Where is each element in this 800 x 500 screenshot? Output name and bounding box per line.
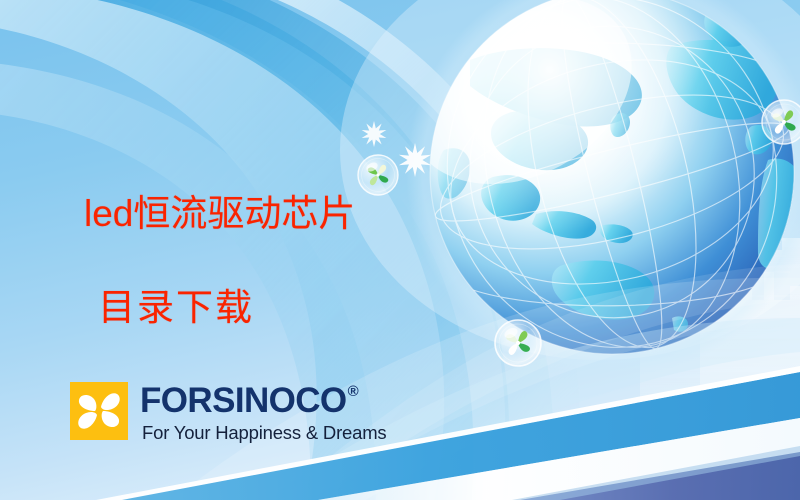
logo-text-block: FORSINOCO ® For Your Happiness & Dreams [140,382,386,443]
logo-mark [70,382,128,440]
logo-wordmark: FORSINOCO ® [140,383,386,418]
headline-line-1: led恒流驱动芯片 [84,195,355,233]
bubble-small-left [358,155,398,195]
brand-logo[interactable]: FORSINOCO ® For Your Happiness & Dreams [70,382,386,443]
logo-tagline: For Your Happiness & Dreams [142,424,386,443]
logo-wordmark-text: FORSINOCO [140,383,347,418]
promo-banner: led恒流驱动芯片 目录下载 FORSINOCO ® [0,0,800,500]
registered-trademark-icon: ® [348,384,358,399]
headline-line-2: 目录下载 [98,289,355,327]
four-petal-pinwheel-icon [70,382,128,440]
page-title: led恒流驱动芯片 目录下载 [84,162,355,359]
bubble-lower-center [495,320,541,366]
bubble-right-edge [762,100,800,144]
